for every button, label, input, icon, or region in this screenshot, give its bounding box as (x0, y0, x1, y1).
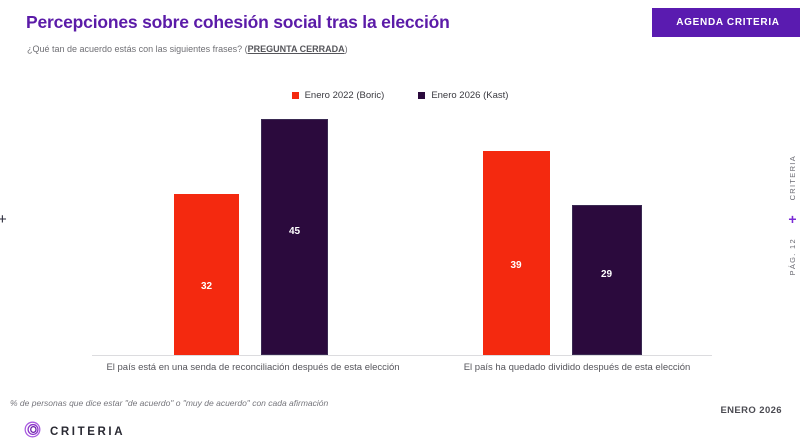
bar-s0-c1[interactable]: 39 (483, 151, 550, 355)
side-rail-page: PÁG. 12 (788, 238, 797, 275)
legend-label-0: Enero 2022 (Boric) (305, 90, 385, 101)
bar-s1-c0[interactable]: 45 (261, 119, 328, 355)
bar-group-1: 39 29 (476, 151, 648, 355)
bar-value-s1-c1: 29 (601, 269, 612, 280)
criteria-spiral-icon (24, 421, 41, 443)
page-title: Percepciones sobre cohesión social tras … (26, 12, 450, 33)
legend-swatch-icon-1 (418, 92, 425, 99)
slide-canvas: Percepciones sobre cohesión social tras … (0, 0, 800, 444)
bar-s1-c1[interactable]: 29 (572, 205, 642, 355)
left-plus-icon: + (0, 212, 7, 227)
bar-s0-c0[interactable]: 32 (174, 194, 239, 355)
subtitle-prefix: ¿Qué tan de acuerdo estás con las siguie… (27, 44, 248, 54)
category-label-1: El país ha quedado dividido después de e… (432, 362, 722, 375)
page-subtitle: ¿Qué tan de acuerdo estás con las siguie… (27, 44, 348, 54)
category-label-0: El país está en una senda de reconciliac… (88, 362, 418, 375)
subtitle-suffix: ) (345, 44, 348, 54)
side-rail-plus-icon: + (788, 212, 796, 226)
legend-swatch-icon-0 (292, 92, 299, 99)
chart-plot-area: 32 45 39 29 (92, 108, 712, 355)
subtitle-closed-question: PREGUNTA CERRADA (248, 44, 345, 54)
date-stamp: ENERO 2026 (720, 405, 782, 416)
bar-value-s1-c0: 45 (289, 226, 300, 237)
side-rail: CRITERIA + PÁG. 12 (788, 155, 797, 276)
criteria-logo: CRITERIA (24, 421, 125, 443)
bar-group-0: 32 45 (168, 119, 334, 355)
bar-value-s0-c0: 32 (201, 281, 212, 292)
legend-item-0[interactable]: Enero 2022 (Boric) (292, 90, 385, 101)
side-rail-brand: CRITERIA (788, 155, 797, 200)
legend-label-1: Enero 2026 (Kast) (431, 90, 508, 101)
chart-legend: Enero 2022 (Boric) Enero 2026 (Kast) (0, 90, 800, 101)
agenda-criteria-badge[interactable]: AGENDA CRITERIA (652, 8, 800, 37)
chart-footnote: % de personas que dice estar "de acuerdo… (10, 398, 328, 408)
criteria-logo-text: CRITERIA (50, 426, 125, 438)
bar-value-s0-c1: 39 (510, 260, 521, 271)
x-axis-line (92, 355, 712, 356)
legend-item-1[interactable]: Enero 2026 (Kast) (418, 90, 508, 101)
